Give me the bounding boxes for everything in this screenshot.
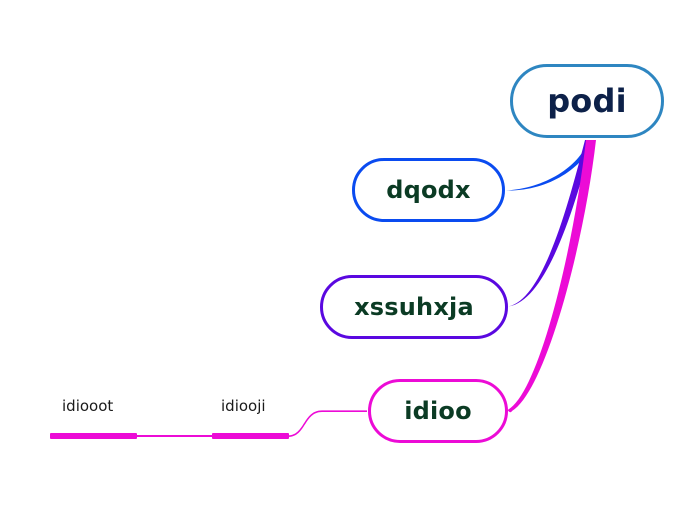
edge-label-idiooji: idiooji: [221, 399, 266, 414]
node-xssuhxja[interactable]: xssuhxja: [320, 275, 508, 339]
diagram-canvas: podi dqodx xssuhxja idioo idiooot idiooj…: [0, 0, 696, 520]
edge-idiooji-idioo: [288, 410, 367, 437]
node-podi-label: podi: [547, 85, 627, 117]
node-dqodx-label: dqodx: [386, 178, 471, 202]
node-podi[interactable]: podi: [510, 64, 664, 138]
node-dqodx[interactable]: dqodx: [352, 158, 505, 222]
segment-idiooot: [50, 433, 137, 439]
node-xssuhxja-label: xssuhxja: [354, 295, 474, 319]
edge-label-idiooot: idiooot: [62, 399, 113, 414]
node-idioo-label: idioo: [404, 399, 472, 423]
segment-connector: [136, 435, 213, 437]
segment-idiooji: [212, 433, 289, 439]
node-idioo[interactable]: idioo: [368, 379, 508, 443]
